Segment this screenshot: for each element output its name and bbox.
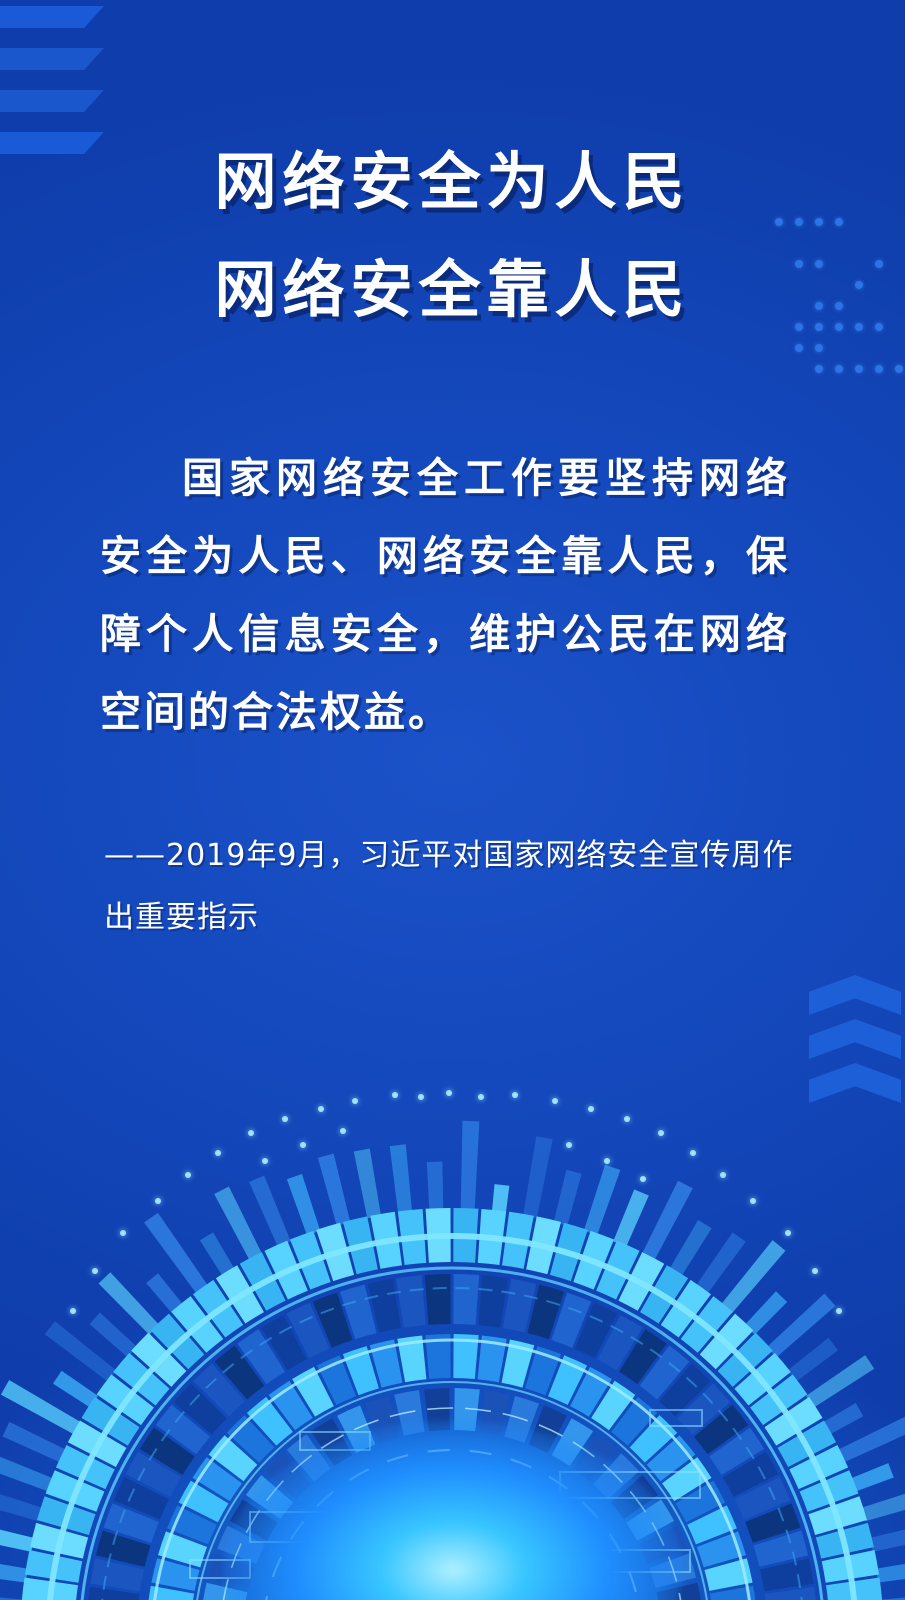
equalizer-bar [318, 1154, 350, 1226]
equalizer-bar [0, 1457, 53, 1492]
floating-spark-dot [92, 1268, 98, 1274]
floating-spark-dot [282, 1116, 288, 1122]
floating-spark-dot [812, 1268, 818, 1274]
floating-spark-dot [155, 1198, 161, 1204]
ring-segment [478, 1275, 508, 1327]
equalizer-bar [200, 1232, 235, 1276]
floating-spark-dot [392, 1092, 398, 1098]
floating-spark-dot [512, 1092, 518, 1098]
text-content-layer: 网络安全为人民 网络安全靠人民 国家网络安全工作要坚持网络安全为人民、网络安全靠… [0, 0, 905, 960]
equalizer-bar [0, 1557, 28, 1582]
equalizer-bar [492, 1184, 509, 1213]
floating-spark-dot [318, 1106, 324, 1112]
equalizer-bar [0, 1524, 34, 1551]
equalizer-bar [787, 1338, 838, 1382]
floating-spark-dot [478, 1094, 484, 1100]
floating-spark-dot [604, 1158, 610, 1164]
equalizer-bar [613, 1189, 649, 1246]
concentric-tech-rings-graphic [0, 1080, 905, 1600]
chevron-up-icon-2 [809, 1019, 901, 1059]
equalizer-bar [390, 1144, 412, 1213]
floating-spark-dot [552, 1098, 558, 1104]
floating-spark-dot [750, 1198, 756, 1204]
ring-segment [425, 1274, 451, 1325]
floating-spark-dot [624, 1116, 630, 1122]
quote-attribution: ——2019年9月，习近平对国家网络安全宣传周作出重要指示 [104, 825, 804, 949]
poster-canvas: 网络安全为人民 网络安全靠人民 国家网络安全工作要坚持网络安全为人民、网络安全靠… [0, 0, 905, 1600]
chevron-up-icon-1 [809, 975, 901, 1015]
equalizer-bar [0, 1483, 43, 1521]
equalizer-bar [287, 1174, 320, 1235]
floating-spark-dot [640, 1176, 646, 1182]
floating-spark-dot [446, 1090, 452, 1096]
floating-spark-dot [70, 1308, 76, 1314]
ring-segment [396, 1275, 426, 1327]
floating-spark-dot [566, 1142, 572, 1148]
ring-segment [453, 1274, 479, 1325]
floating-spark-dot [120, 1230, 126, 1236]
equalizer-bar [249, 1176, 291, 1247]
floating-spark-dot [262, 1158, 268, 1164]
equalizer-bar [851, 1463, 894, 1491]
equalizer-bar [3, 1422, 67, 1463]
equalizer-bar [861, 1484, 905, 1521]
floating-spark-dot [215, 1150, 221, 1156]
equalizer-bar [0, 1595, 24, 1600]
floating-spark-dot [248, 1130, 254, 1136]
floating-spark-dot [690, 1150, 696, 1156]
title-line-1: 网络安全为人民 [0, 128, 905, 236]
equalizer-bar [427, 1162, 444, 1211]
floating-spark-dot [658, 1130, 664, 1136]
equalizer-bar [745, 1291, 787, 1334]
floating-spark-dot [418, 1094, 424, 1100]
floating-spark-dot [300, 1142, 306, 1148]
poster-title: 网络安全为人民 网络安全靠人民 [0, 128, 905, 344]
equalizer-bar [523, 1136, 553, 1218]
floating-spark-dot [340, 1128, 346, 1134]
equalizer-bar [870, 1522, 905, 1552]
floating-spark-dot [720, 1172, 726, 1178]
equalizer-bar [354, 1148, 381, 1218]
floating-spark-dot [352, 1098, 358, 1104]
equalizer-bar [89, 1312, 137, 1357]
equalizer-bar [880, 1593, 905, 1600]
floating-spark-dot [836, 1308, 842, 1314]
floating-spark-dot [185, 1172, 191, 1178]
equalizer-bar [584, 1165, 621, 1235]
equalizer-bar [554, 1170, 582, 1226]
title-line-2: 网络安全靠人民 [0, 236, 905, 344]
equalizer-bar [53, 1371, 98, 1408]
quote-paragraph: 国家网络安全工作要坚持网络安全为人民、网络安全靠人民，保障个人信息安全，维护公民… [100, 439, 790, 751]
equalizer-bar [669, 1220, 711, 1276]
equalizer-bar [461, 1121, 480, 1211]
floating-spark-dot [588, 1106, 594, 1112]
floating-spark-dot [785, 1230, 791, 1236]
equalizer-bar [876, 1559, 905, 1583]
